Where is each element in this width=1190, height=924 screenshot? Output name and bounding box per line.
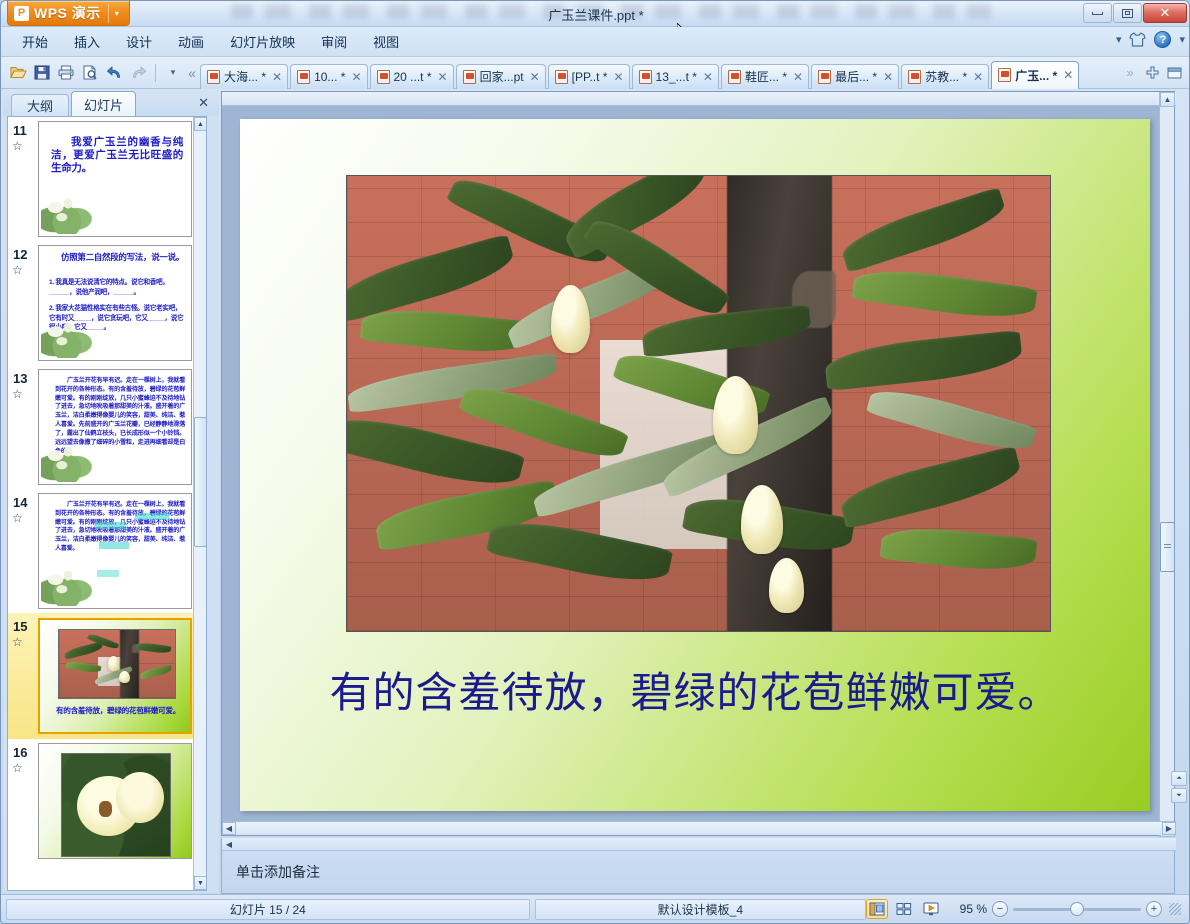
- shrub-decoration-icon: [41, 442, 93, 482]
- highlight-mark-3: [99, 542, 129, 549]
- thumbnail-preview: 我爱广玉兰的幽香与纯洁，更爱广玉兰无比旺盛的生命力。: [38, 121, 192, 237]
- slide-horizontal-scrollbar[interactable]: ◀ ▶: [222, 821, 1176, 835]
- help-icon[interactable]: ?: [1154, 31, 1171, 48]
- doc-tab-label: 20 ...t *: [394, 70, 432, 84]
- menu-item-view[interactable]: 视图: [360, 28, 412, 55]
- notes-collapse-icon[interactable]: ◀: [222, 838, 236, 850]
- flower-bud-4: [769, 558, 804, 613]
- menu-item-animation[interactable]: 动画: [165, 28, 217, 55]
- status-bar: 幻灯片 15 / 24 默认设计模板_4 95 % − +: [1, 894, 1190, 923]
- menu-item-review[interactable]: 审阅: [308, 28, 360, 55]
- quick-access-toolbar: ▾: [1, 62, 184, 84]
- document-title: 广玉兰课件.ppt *: [1, 1, 1190, 27]
- shrub-decoration-icon: [41, 194, 93, 234]
- print-button[interactable]: [55, 62, 77, 84]
- thumbnail-preview: 广玉兰开花有早有迟。走在一棵树上，我就看到花开的各种形态。有的含羞待放，碧绿的花…: [38, 493, 192, 609]
- minimize-icon: [1092, 12, 1103, 15]
- animation-star-icon: ☆: [12, 387, 23, 401]
- doc-tab-label: 回家...pt: [480, 68, 524, 85]
- thumb-text: 我爱广玉兰的幽香与纯洁，更爱广玉兰无比旺盛的生命力。: [51, 136, 183, 175]
- slide-number: 11: [13, 123, 35, 138]
- ppt-file-icon: [377, 70, 390, 84]
- flower-bud-1: [551, 285, 590, 353]
- redo-button[interactable]: [127, 62, 149, 84]
- top-ruler-strip: [222, 92, 1176, 106]
- zoom-percent-label: 95 %: [947, 902, 987, 916]
- slide-thumbnail-panel: 大纲 幻灯片 ✕ 11 ☆ 我爱广玉兰的幽香与纯洁，更爱广玉兰无比旺盛的生命力。: [3, 91, 219, 893]
- close-icon[interactable]: ✕: [701, 70, 713, 84]
- animation-star-icon: ☆: [12, 761, 23, 775]
- skin-shirt-icon[interactable]: [1129, 32, 1146, 47]
- doc-tab-label: 广玉... *: [1015, 67, 1057, 84]
- ppt-file-icon: [639, 70, 652, 84]
- chevron-down-icon[interactable]: ▾: [1116, 33, 1122, 46]
- thumbnail-item-12[interactable]: 12 ☆ 仿照第二自然段的写法，说一说。 1. 我真是无法说清它的特点。说它和香…: [8, 241, 194, 365]
- scroll-left-icon[interactable]: ◀: [222, 822, 236, 835]
- slide-editor-area: 有的含羞待放，碧绿的花苞鲜嫩可爱。 ▲ ▼ ◀ ▶: [221, 91, 1175, 836]
- wps-app-name: WPS 演示: [34, 3, 101, 23]
- window-controls: ✕: [1083, 3, 1187, 23]
- doc-tab-0[interactable]: 大海... *✕: [200, 64, 288, 89]
- thumb-heading: 仿照第二自然段的写法，说一说。: [49, 252, 185, 263]
- notes-pane[interactable]: ◀ 单击添加备注: [221, 838, 1175, 894]
- scrollbar-thumb[interactable]: [194, 417, 207, 547]
- close-icon[interactable]: ✕: [1061, 68, 1073, 82]
- slide-number: 16: [13, 745, 35, 760]
- slide-number: 13: [13, 371, 35, 386]
- menu-item-start[interactable]: 开始: [9, 28, 61, 55]
- previous-slide-button[interactable]: ⏶: [1171, 771, 1187, 786]
- document-tab-bar: 大海... *✕ 10... *✕ 20 ...t *✕ 回家...pt✕ [P…: [200, 57, 1081, 89]
- menu-item-design[interactable]: 设计: [113, 28, 165, 55]
- thumbnail-item-13[interactable]: 13 ☆ 广玉兰开花有早有迟。走在一棵树上，我就看到花开的各种形态。有的含羞待放…: [8, 365, 194, 489]
- zoom-controls: 95 % − +: [866, 899, 1190, 919]
- slide-canvas[interactable]: 有的含羞待放，碧绿的花苞鲜嫩可爱。: [240, 119, 1150, 811]
- ppt-file-icon: [728, 70, 741, 84]
- tabs-scroll-right-button[interactable]: »: [1121, 63, 1139, 83]
- menu-bar-right-tools: ▾ ? ▾: [1116, 31, 1185, 48]
- thumbnail-preview: 广玉兰开花有早有迟。走在一棵树上，我就看到花开的各种形态。有的含羞待放，碧绿的花…: [38, 369, 192, 485]
- doc-tab-9-active[interactable]: 广玉... *✕: [991, 61, 1079, 89]
- window-resize-grip[interactable]: [1169, 903, 1181, 915]
- thumbnail-item-14[interactable]: 14 ☆ 广玉兰开花有早有迟。走在一棵树上，我就看到花开的各种形态。有的含羞待放…: [8, 489, 194, 613]
- doc-tab-8[interactable]: 苏教... *✕: [901, 64, 989, 89]
- minimize-button[interactable]: [1083, 3, 1112, 23]
- ppt-file-icon: [463, 70, 476, 84]
- title-bar: 广玉兰课件.ppt * P WPS 演示 ▾ ✕: [1, 1, 1190, 27]
- panel-tab-bar: 大纲 幻灯片 ✕: [3, 91, 219, 116]
- scroll-up-icon[interactable]: ▲: [194, 117, 207, 131]
- thumbnail-list-inner: 11 ☆ 我爱广玉兰的幽香与纯洁，更爱广玉兰无比旺盛的生命力。 12 ☆ 仿照第…: [8, 117, 194, 863]
- tabstrip-right-tools: »: [1121, 63, 1190, 83]
- doc-tab-label: 最后... *: [835, 68, 877, 85]
- ppt-file-icon: [297, 70, 310, 84]
- flower-bud-3: [741, 485, 783, 553]
- slide-title-text[interactable]: 有的含羞待放，碧绿的花苞鲜嫩可爱。: [240, 659, 1150, 720]
- doc-tab-7[interactable]: 最后... *✕: [811, 64, 899, 89]
- close-button[interactable]: ✕: [1143, 3, 1187, 23]
- animation-star-icon: ☆: [12, 263, 23, 277]
- thumb-photo-flower: [61, 753, 171, 857]
- doc-tab-3[interactable]: 回家...pt✕: [456, 64, 546, 89]
- slide-number: 15: [13, 619, 35, 634]
- shrub-decoration-icon: [41, 318, 93, 358]
- slide-sorter-button[interactable]: [893, 899, 915, 919]
- animation-star-icon: ☆: [12, 139, 23, 153]
- zoom-slider-handle[interactable]: [1070, 902, 1084, 916]
- close-icon[interactable]: ✕: [349, 70, 361, 84]
- help-dropdown-chevron-icon[interactable]: ▾: [1179, 33, 1185, 46]
- menu-bar: 开始 插入 设计 动画 幻灯片放映 审阅 视图 ▾ ? ▾: [1, 27, 1190, 57]
- zoom-in-button[interactable]: +: [1146, 901, 1162, 917]
- restore-icon: [1122, 9, 1133, 18]
- ppt-file-icon: [555, 70, 568, 84]
- thumbnail-item-16[interactable]: 16 ☆: [8, 739, 194, 863]
- close-icon[interactable]: ✕: [611, 70, 623, 84]
- doc-tab-label: 鞋匠... *: [745, 68, 787, 85]
- thumbnail-scrollbar[interactable]: ▲ ▼: [193, 117, 206, 890]
- undo-button[interactable]: [103, 62, 125, 84]
- doc-tab-label: 13_...t *: [656, 70, 697, 84]
- thumbnail-preview: [38, 743, 192, 859]
- chevron-down-icon[interactable]: ▾: [108, 4, 125, 23]
- thumbnail-item-11[interactable]: 11 ☆ 我爱广玉兰的幽香与纯洁，更爱广玉兰无比旺盛的生命力。: [8, 117, 194, 241]
- print-preview-button[interactable]: [79, 62, 101, 84]
- slide-number: 12: [13, 247, 35, 262]
- restore-button[interactable]: [1113, 3, 1142, 23]
- menu-item-insert[interactable]: 插入: [61, 28, 113, 55]
- close-icon[interactable]: ✕: [436, 70, 448, 84]
- notes-splitter[interactable]: ◀: [222, 838, 1176, 851]
- toolbar-more-button[interactable]: ▾: [162, 62, 184, 84]
- doc-tab-label: 大海... *: [224, 68, 266, 85]
- next-slide-button[interactable]: ⏷: [1171, 788, 1187, 803]
- wps-logo-icon: P: [14, 6, 29, 21]
- slide-photo-magnolia[interactable]: [346, 175, 1051, 632]
- close-icon[interactable]: ✕: [528, 70, 540, 84]
- new-document-button[interactable]: [1143, 63, 1161, 83]
- highlight-mark-4: [97, 570, 119, 577]
- toolbar-separator: [155, 64, 156, 82]
- thumbnail-item-15-selected[interactable]: 15 ☆: [8, 613, 194, 739]
- close-icon[interactable]: ✕: [791, 70, 803, 84]
- scrollbar-grip: [1164, 544, 1171, 550]
- menu-item-slideshow[interactable]: 幻灯片放映: [217, 28, 308, 55]
- thumb-line-1: 1. 我真是无法说清它的特点。说它和香吧，______，说他产润吧，______…: [49, 278, 187, 297]
- highlight-mark-2: [95, 522, 125, 529]
- doc-tab-label: 苏教... *: [925, 68, 967, 85]
- thumbnail-preview: 有的含羞待放，碧绿的花苞鲜嫩可爱。: [38, 618, 192, 734]
- open-button[interactable]: [7, 62, 29, 84]
- slide-navigation-buttons: ⏶ ⏷: [1171, 91, 1187, 893]
- zoom-out-button[interactable]: −: [992, 901, 1008, 917]
- doc-tab-2[interactable]: 20 ...t *✕: [370, 64, 454, 89]
- animation-star-icon: ☆: [12, 511, 23, 525]
- tabs-scroll-left-button[interactable]: «: [184, 61, 200, 85]
- close-icon[interactable]: ✕: [881, 70, 893, 84]
- doc-tab-4[interactable]: [PP..t *✕: [548, 64, 630, 89]
- scroll-down-icon[interactable]: ▼: [194, 876, 207, 890]
- design-template-name: 默认设计模板_4: [535, 899, 866, 920]
- slide-number: 14: [13, 495, 35, 510]
- notes-placeholder[interactable]: 单击添加备注: [236, 862, 320, 882]
- thumbnail-preview: 仿照第二自然段的写法，说一说。 1. 我真是无法说清它的特点。说它和香吧，___…: [38, 245, 192, 361]
- close-icon[interactable]: ✕: [971, 70, 983, 84]
- close-icon[interactable]: ✕: [270, 70, 282, 84]
- wps-presentation-window: 广玉兰课件.ppt * P WPS 演示 ▾ ✕ 开始 插入 设计 动画 幻灯片…: [0, 0, 1190, 924]
- zoom-slider[interactable]: [1013, 908, 1141, 911]
- tab-outline[interactable]: 大纲: [11, 94, 69, 116]
- save-button[interactable]: [31, 62, 53, 84]
- doc-tab-label: 10... *: [314, 70, 345, 84]
- ppt-file-icon: [998, 68, 1011, 82]
- slide-counter: 幻灯片 15 / 24: [6, 899, 530, 920]
- thumb-photo: [58, 629, 176, 699]
- ppt-file-icon: [908, 70, 921, 84]
- doc-tab-6[interactable]: 鞋匠... *✕: [721, 64, 809, 89]
- thumb-caption: 有的含羞待放，碧绿的花苞鲜嫩可爱。: [48, 706, 188, 715]
- window-list-button[interactable]: [1165, 63, 1183, 83]
- doc-tab-1[interactable]: 10... *✕: [290, 64, 367, 89]
- toolbar-and-tabstrip: ▾ « 大海... *✕ 10... *✕ 20 ...t *✕ 回家...pt…: [1, 57, 1190, 89]
- slideshow-button[interactable]: [920, 899, 942, 919]
- highlight-mark-1: [135, 513, 169, 520]
- panel-close-icon[interactable]: ✕: [198, 95, 209, 111]
- tab-slides[interactable]: 幻灯片: [71, 91, 136, 116]
- normal-view-button[interactable]: [866, 899, 888, 919]
- ppt-file-icon: [818, 70, 831, 84]
- ppt-file-icon: [207, 70, 220, 84]
- doc-tab-label: [PP..t *: [572, 70, 608, 84]
- thumbnail-list[interactable]: 11 ☆ 我爱广玉兰的幽香与纯洁，更爱广玉兰无比旺盛的生命力。 12 ☆ 仿照第…: [7, 116, 207, 891]
- shrub-decoration-icon: [41, 566, 93, 606]
- doc-tab-5[interactable]: 13_...t *✕: [632, 64, 719, 89]
- animation-star-icon: ☆: [12, 635, 23, 649]
- wps-app-menu-button[interactable]: P WPS 演示 ▾: [7, 1, 130, 26]
